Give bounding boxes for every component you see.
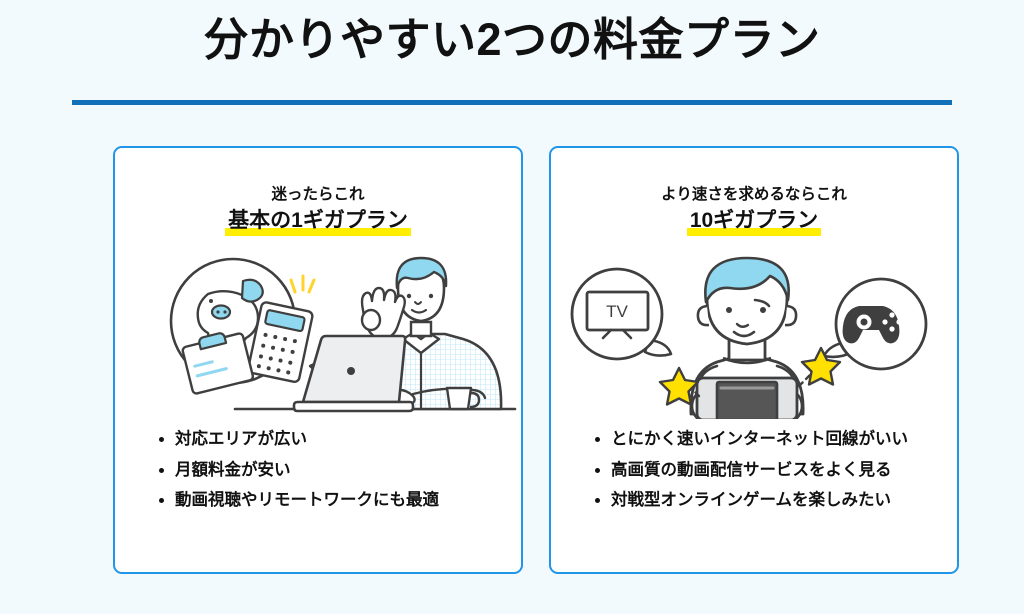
sparkle-icon xyxy=(291,276,314,292)
title-divider xyxy=(72,100,952,105)
card-eyebrow: より速さを求めるならこれ xyxy=(551,182,957,204)
list-item: 動画視聴やリモートワークにも最適 xyxy=(159,487,531,514)
card-plan-label: 基本の1ギガプラン xyxy=(228,209,408,232)
tv-label: TV xyxy=(606,302,628,321)
card-eyebrow: 迷ったらこれ xyxy=(115,182,521,204)
card-plan-title: 10ギガプラン xyxy=(687,208,821,236)
card-plan-title-wrap: 基本の1ギガプラン xyxy=(115,208,521,236)
page-title: 分かりやすい2つの料金プラン xyxy=(0,14,1024,66)
list-item: 月額料金が安い xyxy=(159,457,531,484)
list-item: 対戦型オンラインゲームを楽しみたい xyxy=(595,487,967,514)
boy-figure xyxy=(689,258,813,419)
ok-hand-gesture xyxy=(362,288,405,338)
handheld-console-icon xyxy=(697,378,797,419)
list-item: 高画質の動画配信サービスをよく見る xyxy=(595,457,967,484)
plan-card-10giga[interactable]: より速さを求めるならこれ 10ギガプラン TV xyxy=(549,146,959,574)
card-plan-label: 10ギガプラン xyxy=(690,209,818,232)
card-plan-title-wrap: 10ギガプラン xyxy=(551,208,957,236)
list-item: 対応エリアが広い xyxy=(159,426,531,453)
plan-benefits-list: 対応エリアが広い 月額料金が安い 動画視聴やリモートワークにも最適 xyxy=(137,426,531,518)
list-item: とにかく速いインターネット回線がいい xyxy=(595,426,967,453)
gamepad-speech-bubble-icon xyxy=(824,279,926,369)
card-plan-title: 基本の1ギガプラン xyxy=(225,208,411,236)
plan-cards-container: 迷ったらこれ 基本の1ギガプラン xyxy=(0,146,1024,576)
tv-speech-bubble-icon: TV xyxy=(572,269,671,359)
illustration-boy-gaming: TV xyxy=(551,244,961,419)
illustration-man-at-laptop xyxy=(115,244,525,419)
plan-card-basic-1giga[interactable]: 迷ったらこれ 基本の1ギガプラン xyxy=(113,146,523,574)
plan-benefits-list: とにかく速いインターネット回線がいい 高画質の動画配信サービスをよく見る 対戦型… xyxy=(573,426,967,518)
laptop-icon xyxy=(294,336,413,411)
